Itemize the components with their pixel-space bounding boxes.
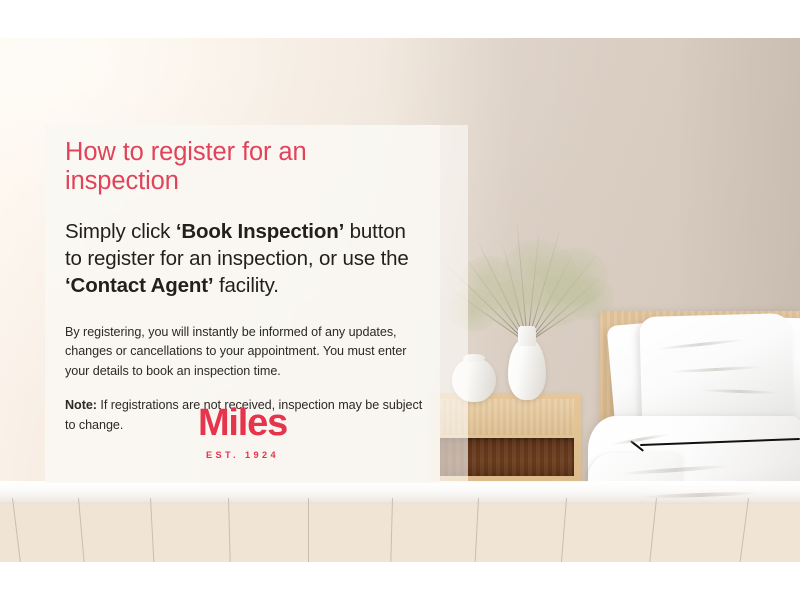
information-panel: How to register for an inspection Simply… bbox=[45, 125, 440, 483]
brand-logo: Miles EST. 1924 bbox=[45, 404, 440, 460]
floor-plank-seam bbox=[150, 498, 155, 562]
floor-plank-seam bbox=[308, 498, 309, 562]
floor-plank-seam bbox=[560, 498, 567, 562]
letterbox-bar-bottom bbox=[0, 562, 800, 600]
contact-agent-emphasis: ‘Contact Agent’ bbox=[65, 274, 213, 297]
logo-wordmark: Miles bbox=[45, 404, 440, 442]
vase-tall bbox=[508, 338, 546, 400]
floor-plank-seam bbox=[390, 498, 393, 562]
floor-plank-seam bbox=[78, 498, 85, 562]
screenshot-canvas: How to register for an inspection Simply… bbox=[0, 0, 800, 600]
letterbox-bar-top bbox=[0, 0, 800, 38]
panel-content: How to register for an inspection Simply… bbox=[65, 125, 425, 435]
timber-floor bbox=[0, 504, 800, 562]
intro-paragraph: Simply click ‘Book Inspection’ button to… bbox=[65, 197, 425, 299]
page-title: How to register for an inspection bbox=[65, 125, 425, 197]
bedroom-scene-image: How to register for an inspection Simply… bbox=[0, 38, 800, 562]
floor-plank-seam bbox=[648, 498, 657, 562]
branch-foliage bbox=[564, 276, 614, 320]
registration-details-paragraph: By registering, you will instantly be in… bbox=[65, 299, 425, 382]
panel-translucent-edge bbox=[440, 125, 468, 483]
floor-plank-seam bbox=[739, 498, 749, 562]
logo-established-text: EST. 1924 bbox=[45, 450, 440, 460]
vase-tall-neck bbox=[518, 326, 536, 346]
intro-text-part-1: Simply click bbox=[65, 220, 176, 243]
book-inspection-emphasis: ‘Book Inspection’ bbox=[176, 220, 344, 243]
intro-text-part-3: facility. bbox=[213, 274, 278, 297]
floor-plank-seam bbox=[228, 498, 231, 562]
floor-plank-seam bbox=[474, 498, 479, 562]
floor-plank-seam bbox=[12, 498, 22, 562]
